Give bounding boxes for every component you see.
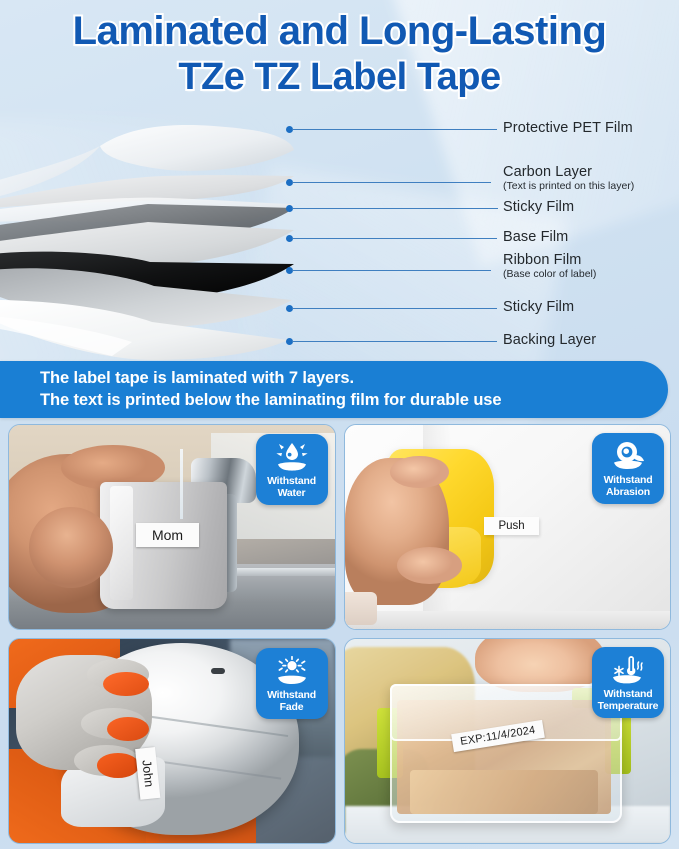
badge-withstand-fade: Withstand Fade [256,648,328,719]
badge-label: Withstand Abrasion [595,474,661,498]
page-title-line-2: TZe TZ Label Tape [0,54,679,100]
infographic-page: Laminated and Long-Lasting TZe TZ Label … [0,0,679,849]
badge-label: Withstand Temperature [595,688,661,712]
badge-label-line-1: Withstand [595,688,661,700]
callout-leader-line [292,341,497,342]
photo-cell-withstand-fade: John [8,638,336,844]
sun-icon [259,653,325,688]
badge-withstand-abrasion: Withstand Abrasion [592,433,664,504]
tape-label-push: Push [484,517,538,535]
water-drop-icon [259,439,325,474]
badge-label: Withstand Water [259,475,325,499]
callout-leader-line [292,182,491,183]
callout-label: Sticky Film [503,299,574,315]
banner-text: The label tape is laminated with 7 layer… [40,368,501,411]
callout-label: Backing Layer [503,332,596,348]
badge-label-line-1: Withstand [595,474,661,486]
callout-leader-line [292,270,491,271]
callout-label: Sticky Film [503,199,574,215]
photo-cell-withstand-temperature: EXP:11/4/2024 [344,638,672,844]
badge-label-line-2: Abrasion [595,486,661,498]
callout-label: Base Film [503,229,568,245]
badge-label: Withstand Fade [259,689,325,713]
callout-label: Protective PET Film [503,120,633,136]
badge-label-line-1: Withstand [259,475,325,487]
callout-leader-line [292,208,498,209]
banner-line-2: The text is printed below the laminating… [40,390,501,412]
exploded-layer-diagram [0,104,298,362]
badge-label-line-2: Fade [259,701,325,713]
layer-callout-list: Protective PET Film Carbon Layer (Text i… [286,110,679,362]
callout-label: Carbon Layer (Text is printed on this la… [503,164,634,193]
callout-label: Ribbon Film (Base color of label) [503,252,596,281]
badge-withstand-temperature: Withstand Temperature [592,647,664,718]
page-title: Laminated and Long-Lasting TZe TZ Label … [0,8,679,100]
tape-label-mom: Mom [136,523,199,547]
thermometer-snowflake-icon [595,652,661,687]
photo-cell-withstand-abrasion: Push Withstand Abrasion [344,424,672,630]
laminate-statement-banner: The label tape is laminated with 7 layer… [0,361,668,418]
tape-roll-icon [595,438,661,473]
callout-leader-line [292,308,497,309]
badge-label-line-2: Water [259,487,325,499]
banner-line-1: The label tape is laminated with 7 layer… [40,368,501,390]
callout-leader-line [292,238,497,239]
callout-leader-line [292,129,497,130]
badge-withstand-water: Withstand Water [256,434,328,505]
photo-cell-withstand-water: Mom Withstand Water [8,424,336,630]
badge-label-line-2: Temperature [595,700,661,712]
feature-photo-grid: Mom Withstand Water [8,424,671,844]
page-title-line-1: Laminated and Long-Lasting [0,8,679,54]
badge-label-line-1: Withstand [259,689,325,701]
